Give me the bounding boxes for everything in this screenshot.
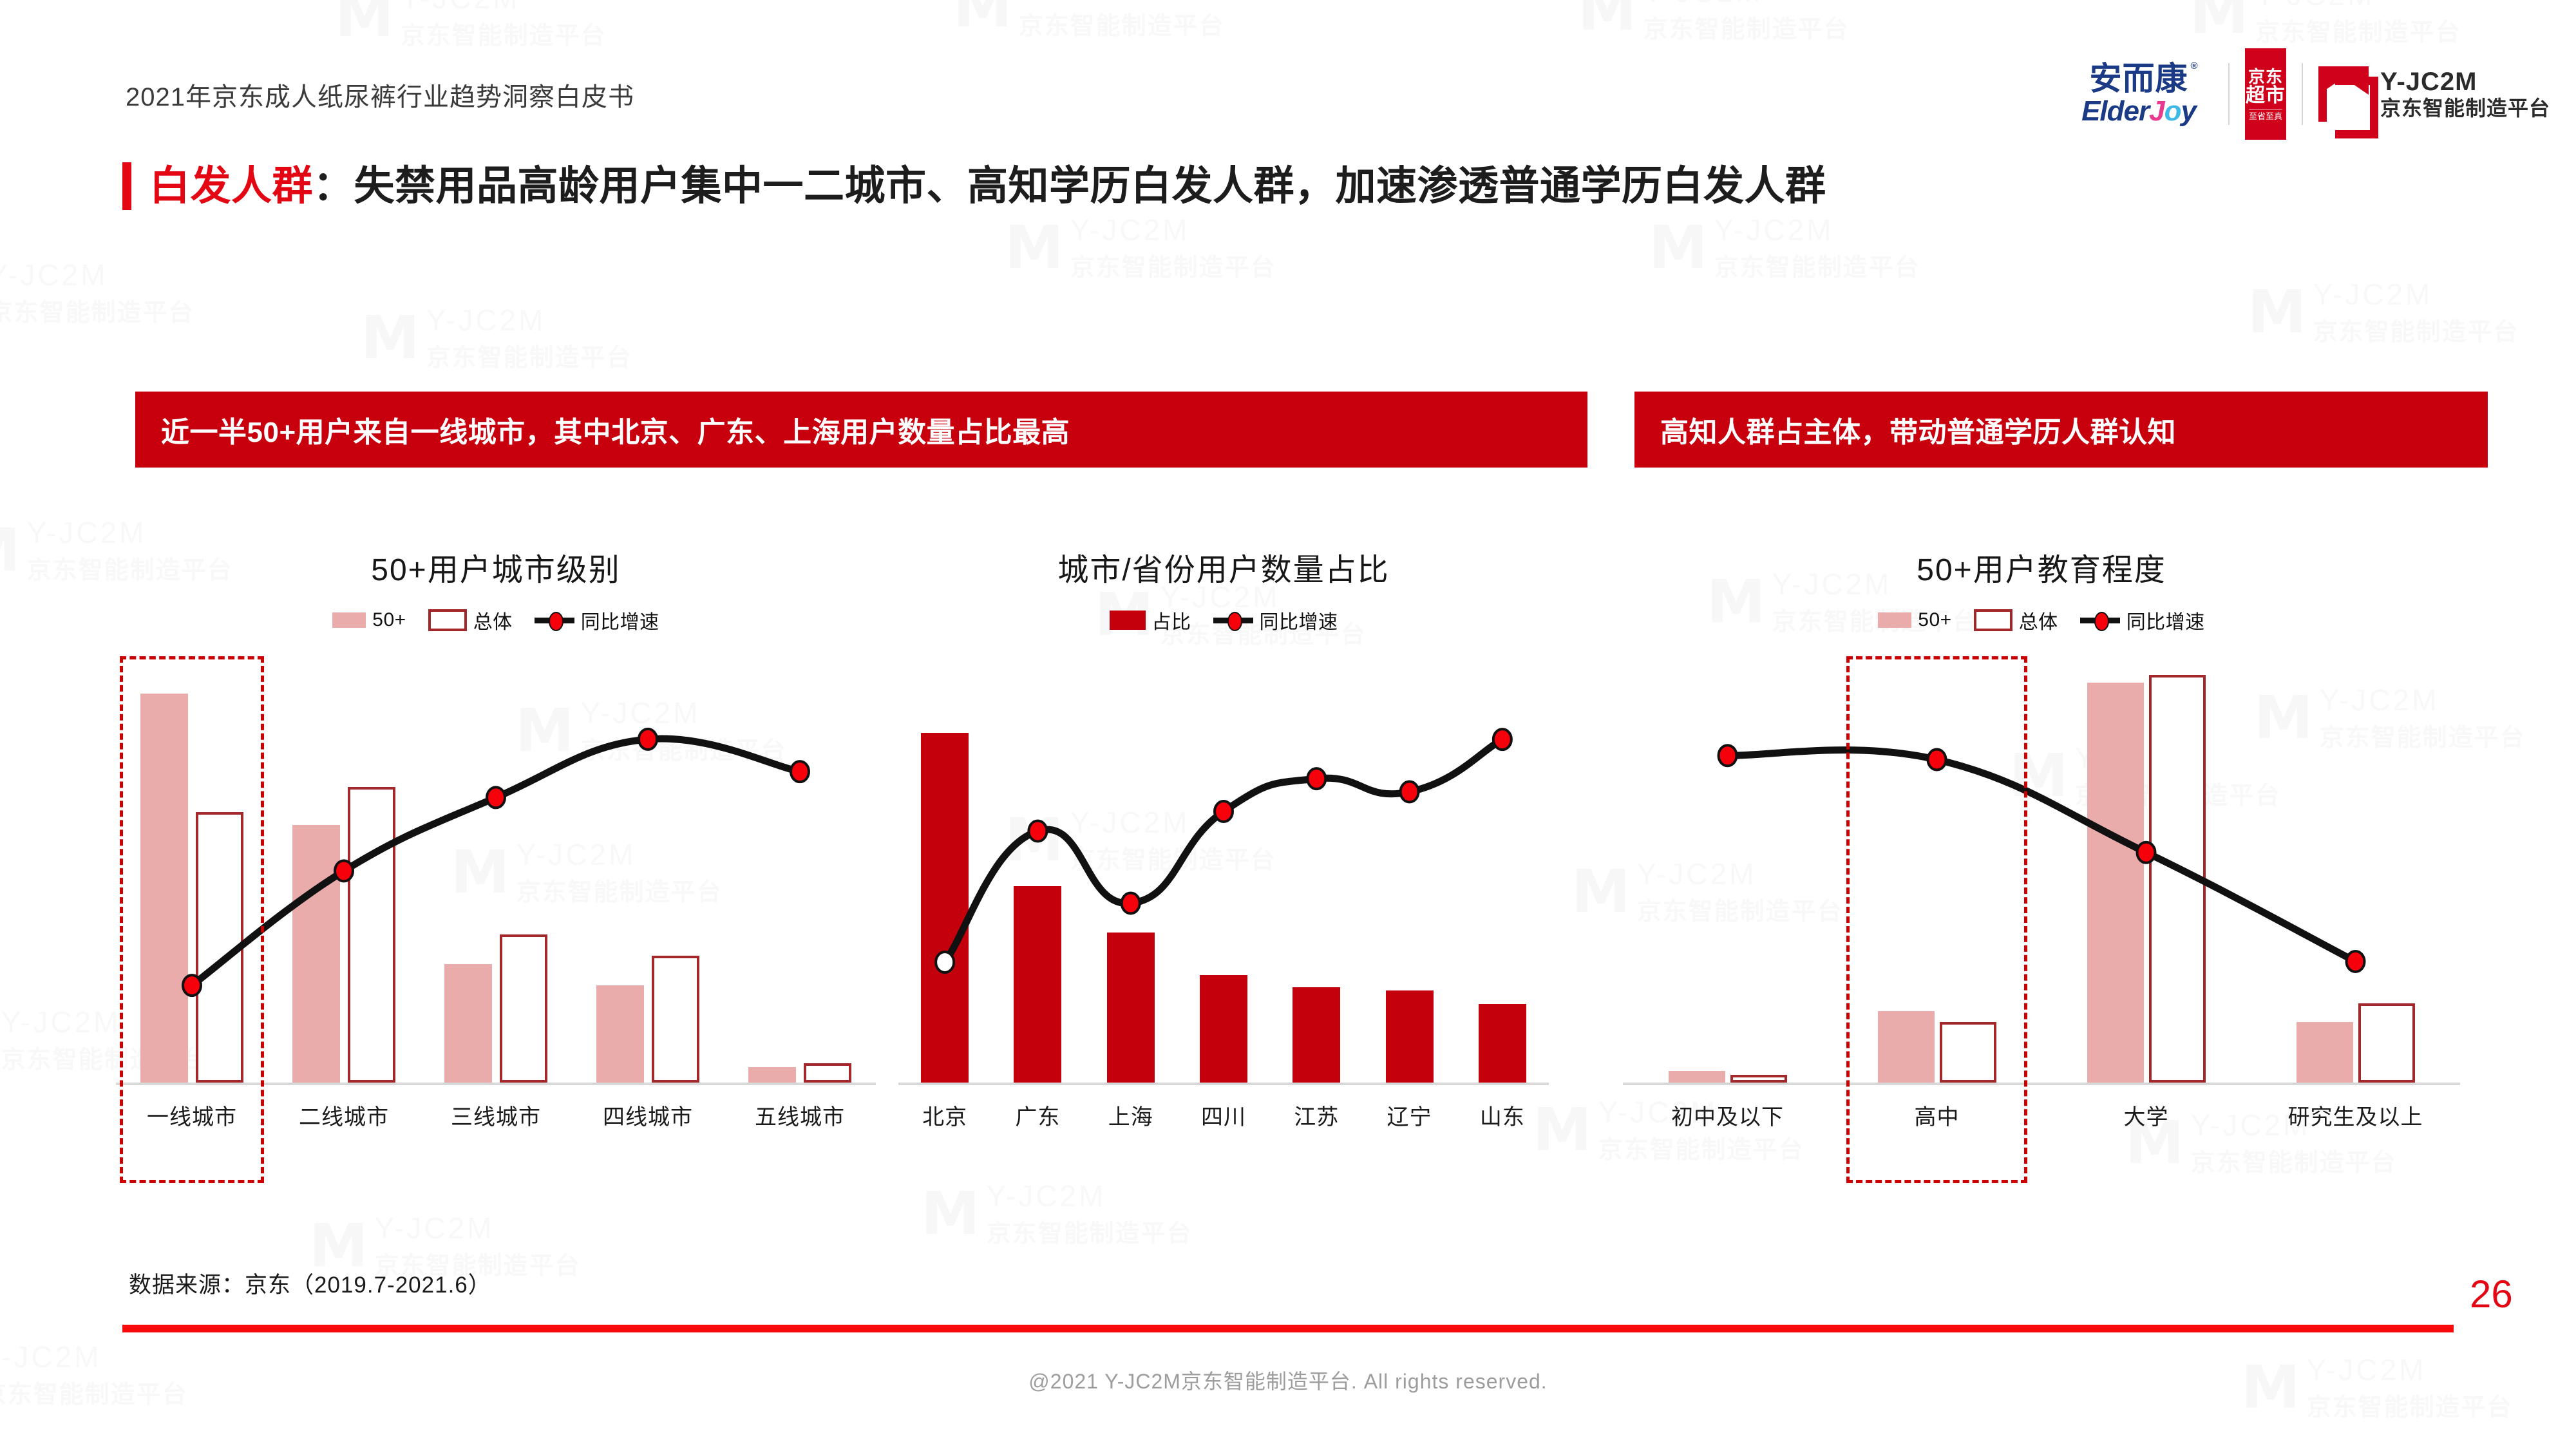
legend-swatch-line-icon — [535, 612, 574, 629]
x-axis-label: 辽宁 — [1363, 1099, 1455, 1131]
legend-swatch-hollow-icon — [428, 609, 467, 631]
trend-point — [639, 729, 657, 750]
x-axis-label: 大学 — [2041, 1099, 2251, 1131]
yjc2m-logo-cn: 京东智能制造平台 — [2380, 96, 2550, 120]
headline: 白发人群：失禁用品高龄用户集中一二城市、高知学历白发人群，加速渗透普通学历白发人… — [122, 162, 1826, 210]
legend-item-yoy-3: 同比增速 — [2080, 606, 2205, 634]
trend-point — [1122, 893, 1140, 913]
banner-left: 近一半50+用户来自一线城市，其中北京、广东、上海用户数量占比最高 — [135, 392, 1587, 468]
headline-rest: ：失禁用品高龄用户集中一二城市、高知学历白发人群，加速渗透普通学历白发人群 — [313, 164, 1826, 209]
chart-city-province-share-plot — [898, 673, 1549, 1085]
copyright-text: @2021 Y-JC2M京东智能制造平台. All rights reserve… — [0, 1365, 2576, 1395]
legend-item-total: 总体 — [428, 606, 513, 634]
chart-education: 50+用户教育程度 50+ 总体 同比增速 初中及以下高中大学研究生及以上 — [1623, 544, 2460, 1131]
legend-label-total-3: 总体 — [2019, 606, 2058, 634]
legend-item-share: 占比 — [1110, 606, 1191, 634]
legend-label-50plus: 50+ — [372, 609, 406, 631]
trend-point — [1719, 745, 1737, 766]
legend-swatch-hollow-icon-3 — [1974, 609, 2012, 631]
elderjoy-logo-en-o: o — [2164, 95, 2181, 127]
chart-city-province-share-x-axis-labels: 北京广东上海四川江苏辽宁山东 — [898, 1099, 1549, 1131]
x-axis-label: 五线城市 — [724, 1099, 876, 1131]
headline-accent-bar — [122, 162, 131, 210]
chart-city-tier-line-series — [116, 660, 876, 1085]
chart-education-plot — [1623, 660, 2460, 1085]
chart-city-tier-x-axis-labels: 一线城市二线城市三线城市四线城市五线城市 — [116, 1099, 876, 1131]
chart-education-x-axis-labels: 初中及以下高中大学研究生及以上 — [1623, 1099, 2460, 1131]
chart-city-tier-plot — [116, 660, 876, 1085]
trend-line — [945, 739, 1502, 962]
elderjoy-logo-en-y: y — [2181, 95, 2196, 127]
legend-item-total-3: 总体 — [1974, 606, 2058, 634]
yjc2m-logo-en: Y-JC2M — [2380, 68, 2550, 96]
x-axis-label: 一线城市 — [116, 1099, 268, 1131]
x-axis-label: 二线城市 — [268, 1099, 420, 1131]
legend-item-yoy: 同比增速 — [535, 606, 659, 634]
elderjoy-logo-en-j: J — [2149, 95, 2164, 127]
elderjoy-logo: 安而康® ElderJoy — [2081, 62, 2213, 126]
trend-point — [936, 952, 954, 972]
x-axis-label: 上海 — [1084, 1099, 1177, 1131]
chart-city-tier-legend: 50+ 总体 同比增速 — [116, 606, 876, 634]
legend-item-50plus: 50+ — [332, 609, 406, 631]
legend-label-share: 占比 — [1152, 606, 1191, 634]
jd-logo-line-2: 超市 — [2246, 86, 2286, 106]
data-source-note: 数据来源：京东（2019.7-2021.6） — [129, 1267, 491, 1300]
trend-point — [183, 975, 201, 996]
x-axis-label: 四线城市 — [572, 1099, 724, 1131]
yjc2m-logo: Y-JC2M 京东智能制造平台 — [2318, 66, 2550, 122]
trend-point — [1215, 801, 1233, 822]
banner-right: 高知人群占主体，带动普通学历人群认知 — [1634, 392, 2488, 468]
x-axis-label: 研究生及以上 — [2251, 1099, 2460, 1131]
trend-point — [335, 860, 353, 881]
chart-education-title: 50+用户教育程度 — [1623, 544, 2460, 589]
legend-label-yoy-2: 同比增速 — [1260, 606, 1338, 634]
trend-point — [1928, 750, 1946, 770]
chart-education-line-series — [1623, 660, 2460, 1085]
jd-logo-line-3: 至省至真 — [2249, 109, 2282, 120]
chart-city-province-share-title: 城市/省份用户数量占比 — [898, 544, 1549, 589]
chart-city-tier-title: 50+用户城市级别 — [116, 544, 876, 589]
legend-label-50plus-3: 50+ — [1918, 609, 1951, 631]
trend-point — [2347, 951, 2365, 972]
legend-swatch-solid-icon — [1110, 611, 1146, 630]
x-axis-label: 北京 — [898, 1099, 991, 1131]
elderjoy-logo-cn: 安而康 — [2090, 61, 2188, 97]
x-axis-label: 广东 — [991, 1099, 1084, 1131]
legend-swatch-line-icon-3 — [2080, 612, 2120, 629]
trend-line — [192, 739, 800, 985]
elderjoy-logo-en-elder: Elder — [2081, 95, 2149, 127]
chart-city-province-share-legend: 占比 同比增速 — [898, 606, 1549, 634]
trend-point — [1307, 768, 1325, 789]
logo-divider-2 — [2302, 63, 2303, 125]
legend-item-50plus-3: 50+ — [1878, 609, 1951, 631]
legend-swatch-fill-icon-3 — [1878, 612, 1911, 628]
chart-education-legend: 50+ 总体 同比增速 — [1623, 606, 2460, 634]
page-number: 26 — [2470, 1272, 2513, 1316]
jd-logo-line-1: 京东 — [2248, 68, 2283, 85]
document-title: 2021年京东成人纸尿裤行业趋势洞察白皮书 — [126, 76, 634, 113]
registered-mark-icon: ® — [2190, 61, 2198, 71]
logo-divider-1 — [2228, 63, 2230, 125]
jd-supermarket-logo: 京东 超市 至省至真 — [2245, 48, 2286, 140]
x-axis-label: 江苏 — [1270, 1099, 1363, 1131]
trend-point — [1493, 729, 1511, 750]
legend-label-total: 总体 — [473, 606, 513, 634]
x-axis-label: 初中及以下 — [1623, 1099, 1832, 1131]
trend-line — [1728, 750, 2356, 961]
logo-group: 安而康® ElderJoy 京东 超市 至省至真 Y-JC2M 京东智能制造平台 — [2081, 48, 2550, 140]
x-axis-label: 三线城市 — [420, 1099, 572, 1131]
headline-highlight: 白发人群 — [149, 164, 313, 209]
x-axis-label: 山东 — [1456, 1099, 1549, 1131]
chart-city-province-share: 城市/省份用户数量占比 占比 同比增速 北京广东上海四川江苏辽宁山东 — [898, 544, 1549, 1131]
x-axis-label: 四川 — [1177, 1099, 1270, 1131]
yjc2m-mark-icon — [2318, 66, 2370, 122]
trend-point — [1028, 821, 1046, 842]
trend-point — [2137, 842, 2155, 863]
chart-city-tier: 50+用户城市级别 50+ 总体 同比增速 一线城市二线城市三线城市四线城市五线… — [116, 544, 876, 1131]
chart-city-province-share-line-series — [898, 673, 1549, 1085]
footer-rule — [122, 1325, 2454, 1332]
trend-point — [1401, 781, 1419, 802]
legend-label-yoy: 同比增速 — [581, 606, 659, 634]
trend-point — [791, 761, 809, 782]
trend-point — [487, 787, 505, 808]
legend-label-yoy-3: 同比增速 — [2126, 606, 2205, 634]
legend-item-yoy-2: 同比增速 — [1213, 606, 1338, 634]
legend-swatch-line-icon-2 — [1213, 612, 1253, 629]
x-axis-label: 高中 — [1832, 1099, 2041, 1131]
legend-swatch-fill-icon — [332, 612, 366, 628]
